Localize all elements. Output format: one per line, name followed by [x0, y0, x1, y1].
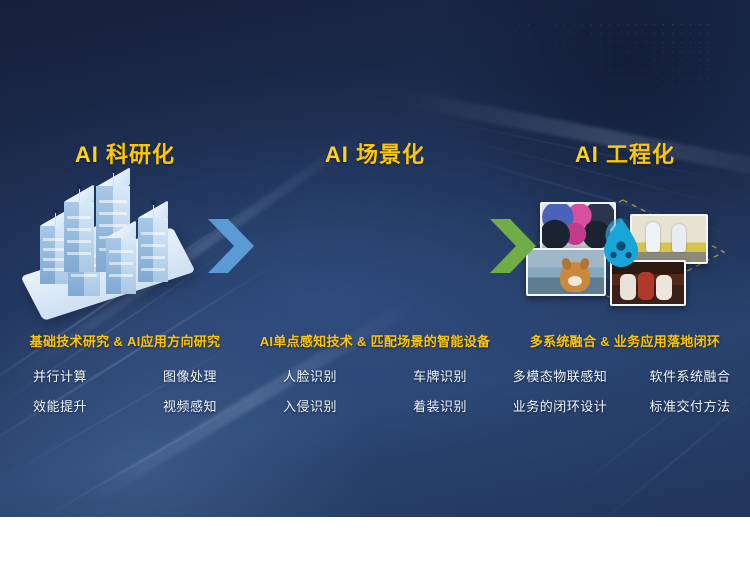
- list-item: 入侵识别: [283, 396, 337, 415]
- poster-banner: AI 科研化 基础技术研究 & AI应用方向研究 并行计算 图像处理 效能提升 …: [0, 0, 750, 517]
- column-item-list: 多模态物联感知 软件系统融合 业务的闭环设计 标准交付方法: [500, 366, 750, 415]
- column-subtitle: AI单点感知技术 & 匹配场景的智能设备: [250, 331, 500, 350]
- city-antenna: [113, 172, 114, 185]
- column-title-en: AI: [75, 142, 99, 167]
- city-antenna: [55, 212, 56, 225]
- list-item: 标准交付方法: [649, 396, 730, 415]
- column-title: AI 场景化: [250, 137, 500, 169]
- list-item: 软件系统融合: [649, 366, 730, 385]
- column-title-cn: 科研化: [106, 142, 175, 167]
- city-building: [64, 202, 94, 272]
- list-item: 着装识别: [413, 396, 467, 415]
- city-building: [106, 238, 136, 294]
- column-title: AI 科研化: [0, 137, 250, 169]
- column-subtitle: 多系统融合 & 业务应用落地闭环: [500, 331, 750, 350]
- list-item: 图像处理: [163, 366, 217, 385]
- column-title-en: AI: [575, 142, 599, 167]
- list-item: 视频感知: [163, 396, 217, 415]
- column-subtitle: 基础技术研究 & AI应用方向研究: [0, 331, 250, 350]
- list-item: 车牌识别: [413, 366, 467, 385]
- column-title: AI 工程化: [500, 137, 750, 169]
- isometric-city-icon: [18, 168, 202, 316]
- list-item: 业务的闭环设计: [513, 396, 608, 415]
- city-building: [138, 218, 168, 282]
- poster-canvas: AI 科研化 基础技术研究 & AI应用方向研究 并行计算 图像处理 效能提升 …: [0, 0, 750, 564]
- column-ai-scenario: AI 场景化 AI单点感知技术 & 匹配场景的智能设备 人脸识别 车牌识别 入侵…: [250, 0, 500, 517]
- column-item-list: 人脸识别 车牌识别 入侵识别 着装识别: [250, 366, 500, 415]
- column-item-list: 并行计算 图像处理 效能提升 视频感知: [0, 366, 250, 415]
- city-antenna: [153, 204, 154, 217]
- city-antenna: [79, 188, 80, 201]
- list-item: 并行计算: [33, 366, 87, 385]
- column-title-cn: 场景化: [356, 142, 425, 167]
- column-title-en: AI: [325, 142, 349, 167]
- list-item: 效能提升: [33, 396, 87, 415]
- list-item: 人脸识别: [283, 366, 337, 385]
- column-title-cn: 工程化: [606, 142, 675, 167]
- column-ai-engineering: AI 工程化 多系统融合 & 业务应用落地闭环 多模态物联感知 软件系统融合 业…: [500, 0, 750, 517]
- list-item: 多模态物联感知: [513, 366, 608, 385]
